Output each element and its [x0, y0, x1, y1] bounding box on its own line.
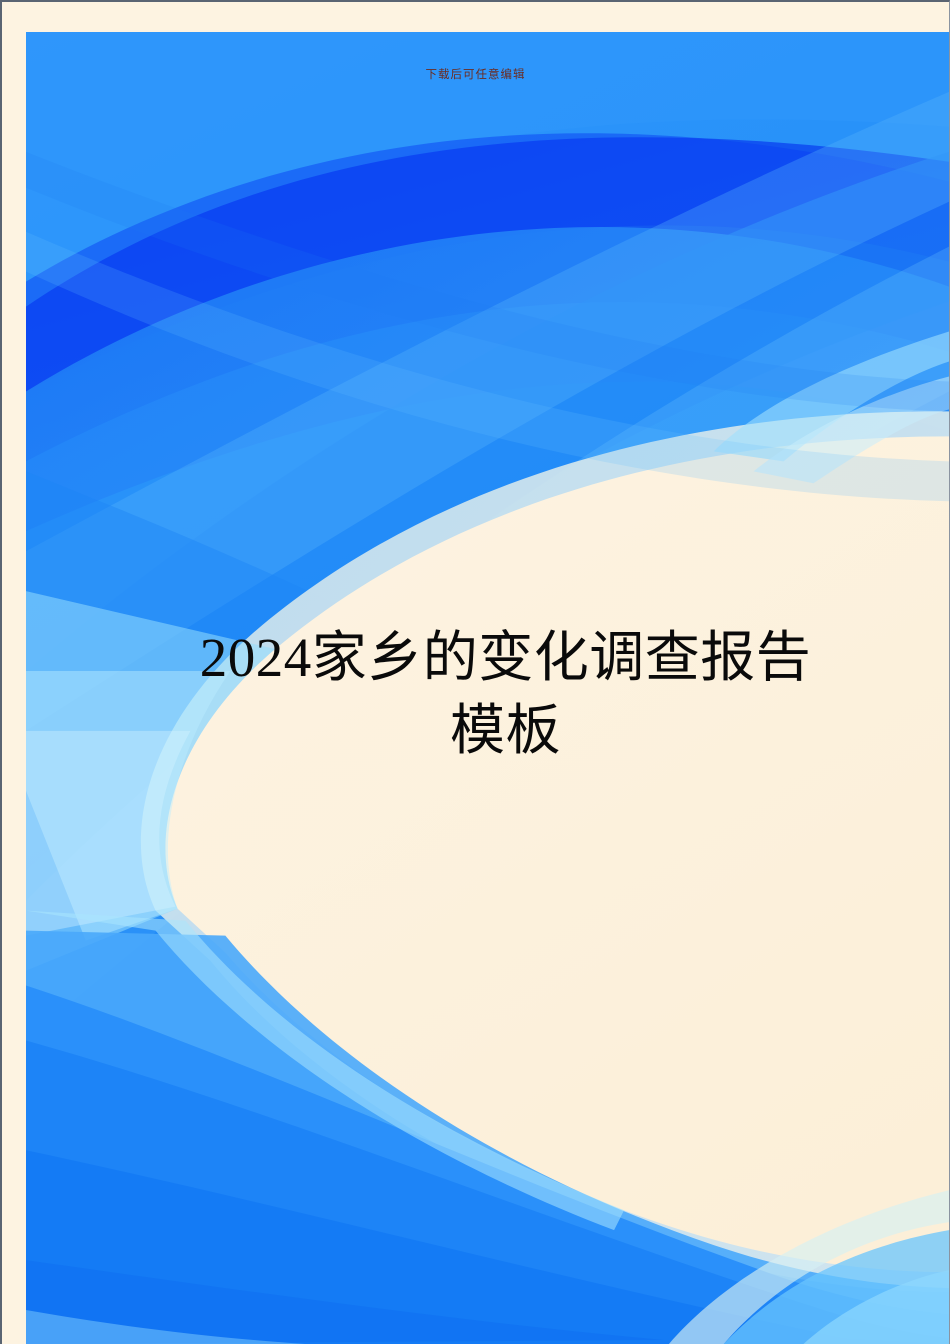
page-title-line-1: 2024家乡的变化调查报告 — [122, 622, 889, 695]
page-title: 2024家乡的变化调查报告 模板 — [122, 622, 889, 767]
page-title-line-2: 模板 — [122, 695, 889, 768]
editable-notice-text: 下载后可任意编辑 — [2, 66, 949, 82]
document-cover-page: 下载后可任意编辑 2024家乡的变化调查报告 模板 — [0, 0, 950, 1344]
